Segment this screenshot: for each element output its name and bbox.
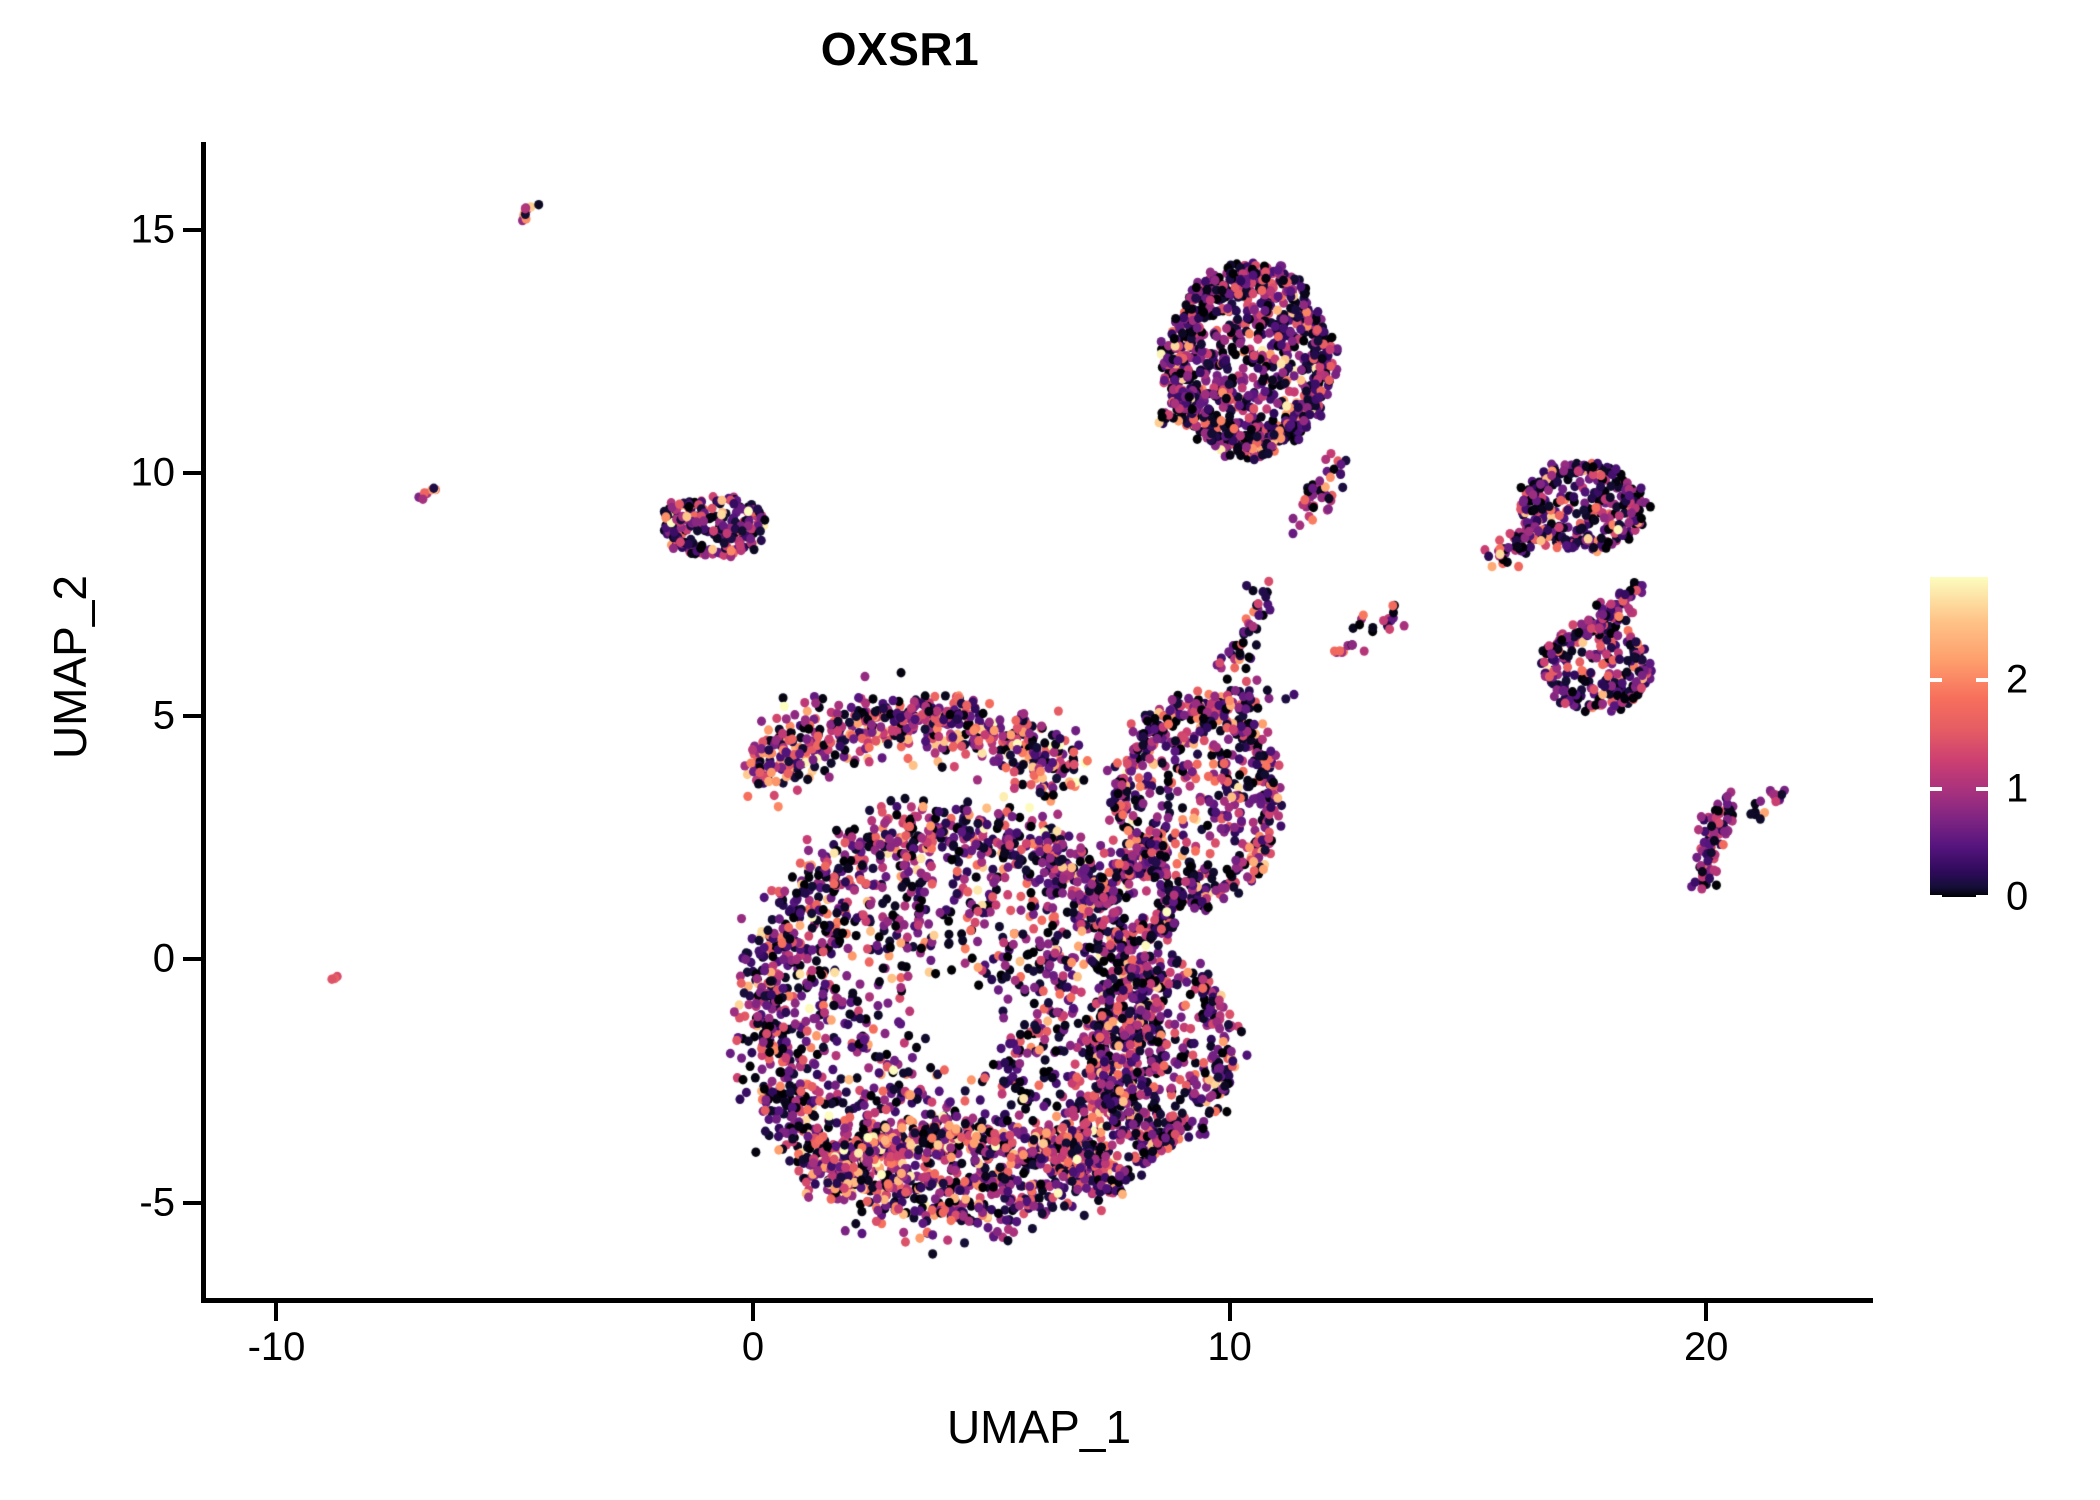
y-tick-label: -5 [139, 1180, 175, 1225]
colorbar-tick-label: 0 [2006, 875, 2028, 920]
x-tick-mark [1228, 1303, 1232, 1321]
x-tick-label: -10 [248, 1325, 306, 1370]
x-tick-label: 10 [1207, 1325, 1252, 1370]
page-title: OXSR1 [0, 22, 1800, 76]
x-axis-line [201, 1298, 1873, 1303]
scatter-canvas [205, 142, 1873, 1300]
colorbar-tick-mark [1930, 678, 1942, 682]
y-tick-label: 15 [131, 207, 176, 252]
colorbar-tick-label: 2 [2006, 658, 2028, 703]
x-axis-title: UMAP_1 [205, 1400, 1873, 1454]
colorbar-tick-label: 1 [2006, 766, 2028, 811]
colorbar-gradient [1930, 577, 1988, 897]
y-tick-mark [183, 471, 201, 475]
y-tick-mark [183, 1201, 201, 1205]
y-tick-label: 10 [131, 450, 176, 495]
y-tick-label: 0 [153, 937, 175, 982]
x-tick-mark [1704, 1303, 1708, 1321]
y-tick-mark [183, 714, 201, 718]
colorbar-legend: 012 [1930, 577, 2080, 907]
y-tick-mark [183, 957, 201, 961]
colorbar-tick-mark [1930, 895, 1942, 899]
x-tick-label: 20 [1684, 1325, 1729, 1370]
colorbar-tick-mark [1976, 895, 1988, 899]
colorbar-tick-mark [1976, 787, 1988, 791]
chart-root: OXSR1 -1001020 -5051015 UMAP_1 UMAP_2 01… [0, 0, 2100, 1500]
y-tick-label: 5 [153, 694, 175, 739]
x-tick-label: 0 [742, 1325, 764, 1370]
colorbar-tick-mark [1976, 678, 1988, 682]
y-axis-line [201, 142, 206, 1302]
colorbar-tick-mark [1930, 787, 1942, 791]
x-tick-mark [274, 1303, 278, 1321]
y-tick-mark [183, 228, 201, 232]
x-tick-mark [751, 1303, 755, 1321]
y-axis-title: UMAP_2 [43, 287, 97, 1047]
plot-panel [205, 142, 1873, 1300]
